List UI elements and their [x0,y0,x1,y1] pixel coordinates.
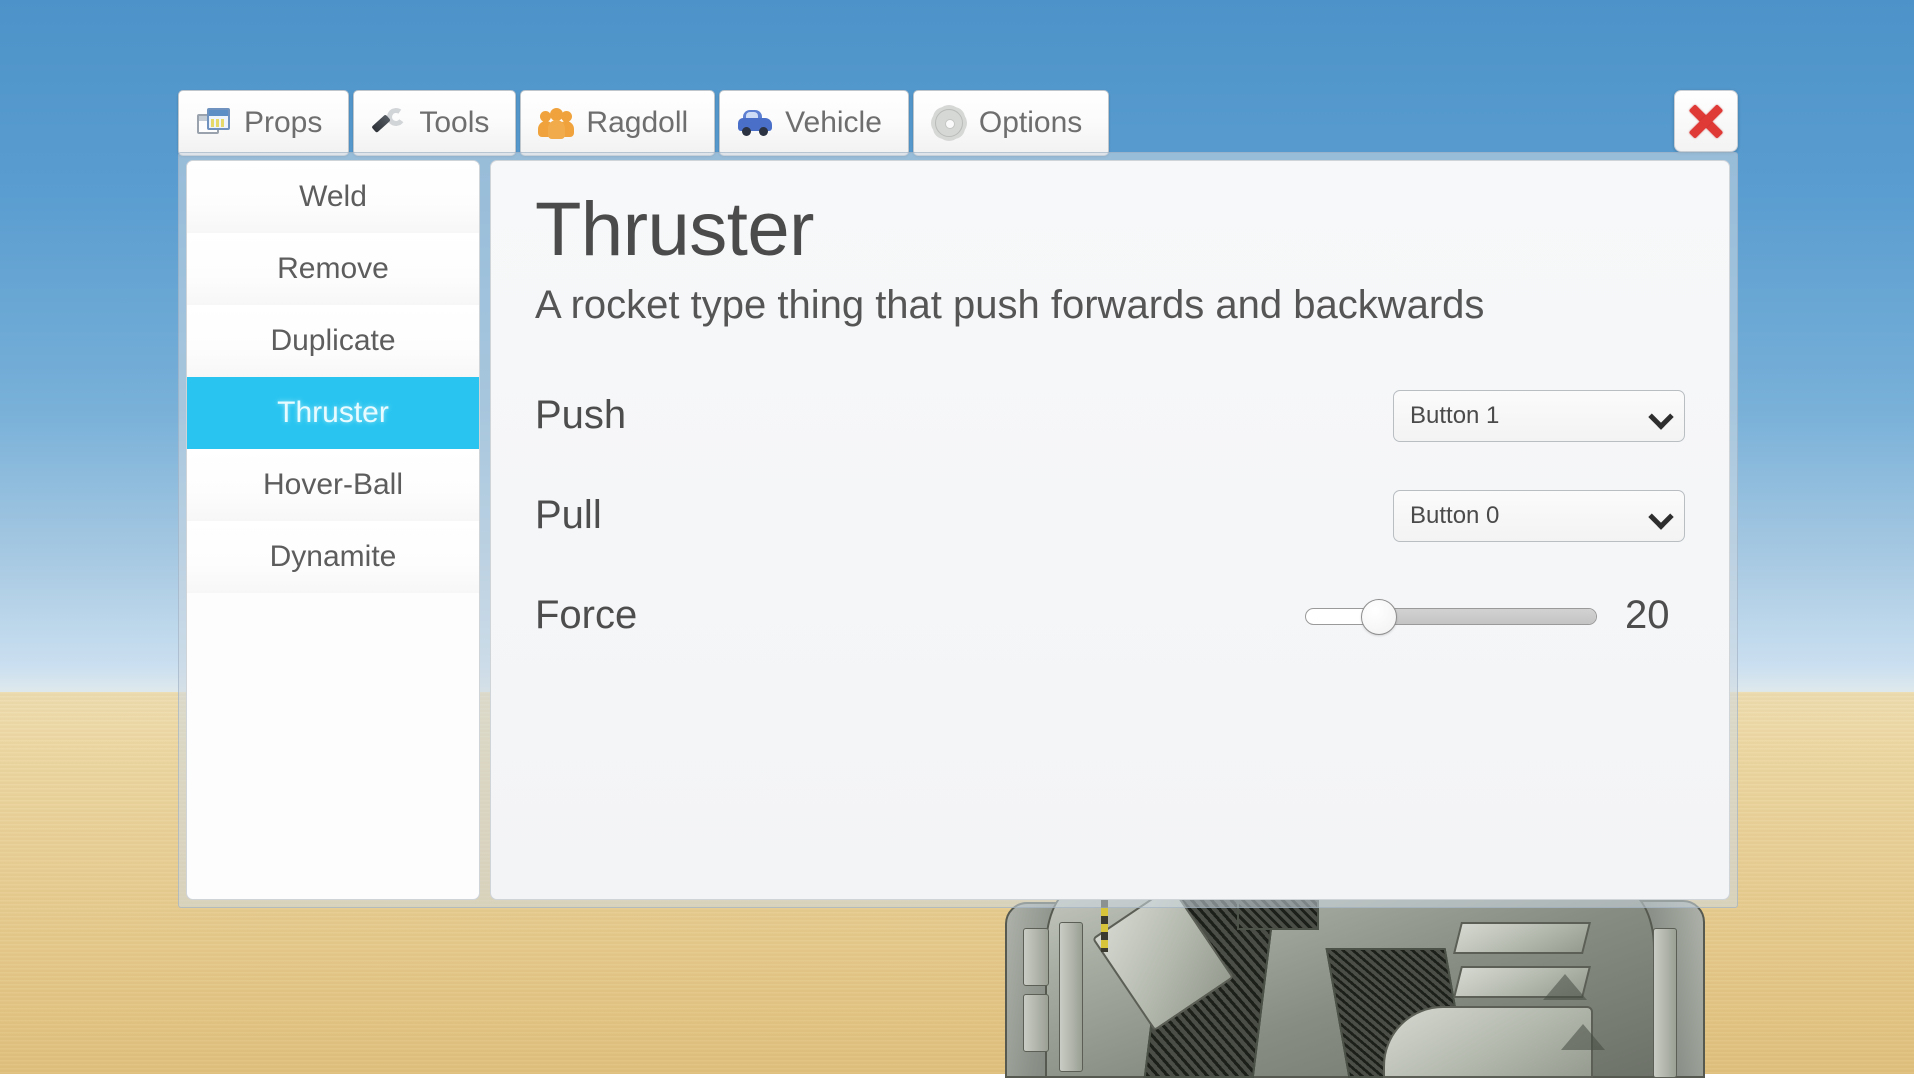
tab-ragdoll[interactable]: Ragdoll [520,90,715,156]
tab-label: Props [244,106,322,140]
prop-rib [1023,928,1049,986]
prop-triangle-decal [1543,974,1587,1000]
tab-label: Tools [419,106,489,140]
tab-label: Options [979,106,1082,140]
sidebar-item-label: Dynamite [270,540,397,574]
chevron-down-icon [1650,406,1670,426]
tab-options[interactable]: Options [913,90,1109,156]
chevron-down-icon [1650,506,1670,526]
setting-label: Push [535,393,1393,438]
tab-label: Vehicle [785,106,882,140]
page-title: Thruster [535,191,1685,269]
setting-label: Pull [535,493,1393,538]
setting-row-pull: Pull Button 0 [535,477,1685,555]
metal-prop [1005,888,1705,1078]
tab-label: Ragdoll [586,106,688,140]
setting-row-force: Force 20 [535,577,1685,655]
prop-plate [1453,922,1591,954]
windows-icon [197,106,231,140]
setting-label: Force [535,593,1305,638]
slider-remainder [1379,609,1596,624]
slider-knob[interactable] [1361,599,1397,635]
pull-binding-select[interactable]: Button 0 [1393,490,1685,542]
sidebar-item-thruster[interactable]: Thruster [187,377,479,449]
push-binding-select[interactable]: Button 1 [1393,390,1685,442]
window-body: Weld Remove Duplicate Thruster Hover-Bal… [178,152,1738,908]
car-icon [738,106,772,140]
close-button[interactable] [1674,90,1738,152]
sidebar-item-remove[interactable]: Remove [187,233,479,305]
force-slider[interactable] [1305,603,1597,629]
people-icon [539,106,573,140]
wrench-icon [372,106,406,140]
setting-row-push: Push Button 1 [535,377,1685,455]
force-value: 20 [1625,593,1685,638]
sidebar-item-label: Thruster [277,396,389,430]
page-description: A rocket type thing that push forwards a… [535,283,1685,327]
prop-triangle-decal [1561,1024,1605,1050]
force-slider-group: 20 [1305,593,1685,638]
tab-bar: Props Tools Ragdoll Vehicle Opt [178,90,1109,156]
tab-vehicle[interactable]: Vehicle [719,90,909,156]
prop-rib [1059,922,1083,1072]
sidebar-item-duplicate[interactable]: Duplicate [187,305,479,377]
prop-rib [1023,994,1049,1052]
tool-settings-panel: Thruster A rocket type thing that push f… [490,160,1730,900]
spawn-menu-window: Props Tools Ragdoll Vehicle Opt [178,90,1738,908]
sidebar-item-weld[interactable]: Weld [187,161,479,233]
sidebar-item-dynamite[interactable]: Dynamite [187,521,479,593]
prop-rib [1653,928,1677,1078]
sidebar-item-label: Weld [299,180,367,214]
gear-icon [932,106,966,140]
sidebar-item-hover-ball[interactable]: Hover-Ball [187,449,479,521]
sidebar-item-label: Remove [277,252,389,286]
tab-tools[interactable]: Tools [353,90,516,156]
select-value: Button 1 [1410,402,1499,430]
tab-props[interactable]: Props [178,90,349,156]
sidebar-item-label: Hover-Ball [263,468,403,502]
tool-list-sidebar: Weld Remove Duplicate Thruster Hover-Bal… [186,160,480,900]
select-value: Button 0 [1410,502,1499,530]
sidebar-item-label: Duplicate [270,324,395,358]
